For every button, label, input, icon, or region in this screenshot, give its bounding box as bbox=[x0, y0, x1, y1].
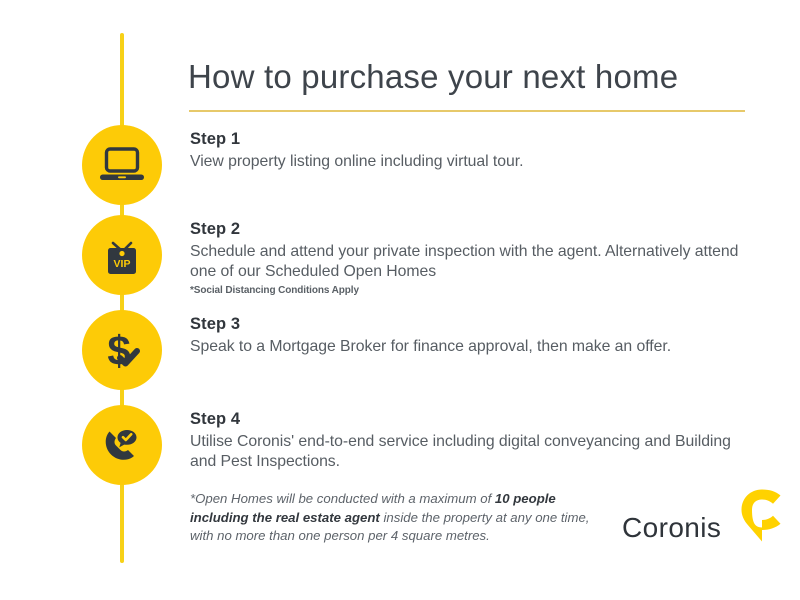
laptop-icon bbox=[99, 147, 145, 183]
step-2-description: Schedule and attend your private inspect… bbox=[190, 242, 750, 283]
step-2-note: *Social Distancing Conditions Apply bbox=[190, 285, 750, 296]
step-1-description: View property listing online including v… bbox=[190, 152, 750, 173]
dollar-check-icon: $ bbox=[100, 327, 144, 373]
step-1-text: Step 1 View property listing online incl… bbox=[190, 129, 750, 172]
step-2-icon-badge: VIP bbox=[82, 215, 162, 295]
coronis-logo: Coronis bbox=[622, 486, 782, 558]
step-1-icon-badge bbox=[82, 125, 162, 205]
step-3-icon-badge: $ bbox=[82, 310, 162, 390]
svg-text:$: $ bbox=[107, 327, 130, 373]
page-title: How to purchase your next home bbox=[188, 58, 758, 96]
phone-chat-check-icon bbox=[99, 424, 145, 466]
svg-text:VIP: VIP bbox=[114, 258, 131, 270]
footnote-lead: *Open Homes will be conducted with a max… bbox=[190, 491, 495, 506]
step-3-description: Speak to a Mortgage Broker for finance a… bbox=[190, 337, 750, 358]
step-2-title: Step 2 bbox=[190, 219, 750, 240]
step-3-text: Step 3 Speak to a Mortgage Broker for fi… bbox=[190, 314, 750, 357]
step-4-icon-badge bbox=[82, 405, 162, 485]
logo-wordmark: Coronis bbox=[622, 512, 721, 544]
vip-tag-icon: VIP bbox=[100, 232, 144, 278]
step-4-title: Step 4 bbox=[190, 409, 750, 430]
title-underline-rule bbox=[189, 110, 745, 112]
footnote: *Open Homes will be conducted with a max… bbox=[190, 490, 610, 546]
infographic-page: How to purchase your next home Step 1 Vi… bbox=[0, 0, 800, 600]
step-3-title: Step 3 bbox=[190, 314, 750, 335]
coronis-c-pin-mark bbox=[740, 488, 784, 555]
step-1-title: Step 1 bbox=[190, 129, 750, 150]
step-2-text: Step 2 Schedule and attend your private … bbox=[190, 219, 750, 296]
step-4-text: Step 4 Utilise Coronis' end-to-end servi… bbox=[190, 409, 750, 473]
step-4-description: Utilise Coronis' end-to-end service incl… bbox=[190, 432, 750, 473]
